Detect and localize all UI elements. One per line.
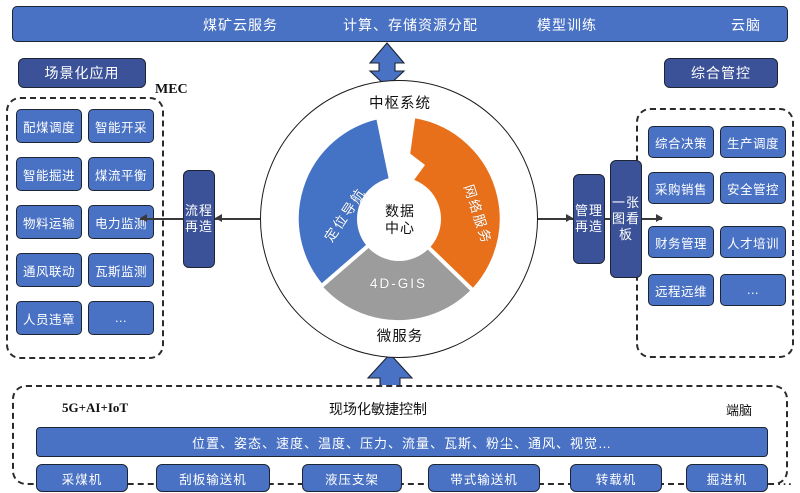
bottom-right-tag: 端脑 [726, 400, 752, 419]
equipment-ellipsis: … [776, 470, 795, 490]
right-cell-3-0[interactable]: 远程远维 [648, 274, 714, 306]
left-cell-1-0[interactable]: 智能掘进 [16, 157, 82, 191]
left-cell-3-1[interactable]: 瓦斯监测 [88, 253, 154, 287]
right-management-panel: 综合决策 生产调度 采购销售 安全管控 财务管理 人才培训 远程远维 … [636, 108, 794, 358]
right-cell-2-0[interactable]: 财务管理 [648, 226, 714, 258]
data-center-hub: 数据 中心 [362, 182, 438, 258]
right-cell-0-1[interactable]: 生产调度 [720, 126, 786, 158]
equipment-box-5[interactable]: 掘进机 [686, 464, 768, 492]
left-cell-0-1[interactable]: 智能开采 [88, 109, 154, 143]
arrow-right-to-mgmt-icon [566, 214, 573, 222]
topbar-item-2: 模型训练 [537, 7, 597, 43]
bottom-center-title: 现场化敏捷控制 [329, 399, 427, 419]
right-cell-3-1[interactable]: … [720, 274, 786, 306]
left-header-box: 场景化应用 [18, 58, 146, 88]
diagram-canvas: 煤矿云服务 计算、存储资源分配 模型训练 云脑 场景化应用 MEC 配煤调度 智… [0, 0, 800, 493]
equipment-box-4[interactable]: 转载机 [570, 464, 662, 492]
right-cell-0-0[interactable]: 综合决策 [648, 126, 714, 158]
hub-line-1: 数据 [385, 203, 415, 221]
right-cell-2-1[interactable]: 人才培训 [720, 226, 786, 258]
equipment-box-0[interactable]: 采煤机 [36, 464, 128, 492]
right-header-box: 综合管控 [664, 58, 778, 88]
right-cell-1-0[interactable]: 采购销售 [648, 172, 714, 204]
field-control-panel: 5G+AI+IoT 现场化敏捷控制 端脑 位置、姿态、速度、温度、压力、流量、瓦… [12, 385, 788, 485]
left-cell-2-1[interactable]: 电力监测 [88, 205, 154, 239]
cloud-services-topbar: 煤矿云服务 计算、存储资源分配 模型训练 云脑 [12, 6, 788, 42]
mec-label: MEC [155, 82, 188, 98]
arrow-left-to-process-icon [215, 214, 222, 222]
one-map-dashboard-box: 一张图看板 [610, 160, 642, 278]
left-cell-2-0[interactable]: 物料运输 [16, 205, 82, 239]
equipment-box-3[interactable]: 带式输送机 [428, 464, 540, 492]
central-system-diagram: 中枢系统 微服务 数据 中心 定位导航 网络服务 4D-GIS [258, 76, 542, 368]
hub-line-2: 中心 [385, 220, 415, 238]
left-cell-1-1[interactable]: 煤流平衡 [88, 157, 154, 191]
topbar-item-0: 煤矿云服务 [203, 7, 278, 43]
left-cell-3-0[interactable]: 通风联动 [16, 253, 82, 287]
management-reengineering-box: 管理再造 [573, 174, 605, 264]
left-cell-4-0[interactable]: 人员违章 [16, 301, 82, 335]
equipment-box-1[interactable]: 刮板输送机 [156, 464, 270, 492]
arrow-right-to-right-panel-icon [656, 214, 663, 222]
arrow-left-to-panel-icon [140, 214, 147, 222]
one-map-dashboard-label: 一张图看板 [611, 195, 641, 243]
connector-line-circle-to-process [215, 218, 263, 220]
equipment-box-2[interactable]: 液压支架 [302, 464, 402, 492]
topbar-item-3: 云脑 [731, 7, 761, 43]
left-cell-4-1[interactable]: … [88, 301, 154, 335]
sensor-parameters-bar: 位置、姿态、速度、温度、压力、流量、瓦斯、粉尘、通风、视觉… [36, 427, 768, 457]
management-reengineering-label: 管理再造 [574, 203, 604, 235]
segment-label-4dgis: 4D-GIS [370, 276, 427, 291]
process-reengineering-box: 流程再造 [183, 170, 215, 268]
left-scenario-panel: 配煤调度 智能开采 智能掘进 煤流平衡 物料运输 电力监测 通风联动 瓦斯监测 … [6, 97, 164, 359]
topbar-item-1: 计算、存储资源分配 [343, 7, 478, 43]
process-reengineering-label: 流程再造 [184, 203, 214, 235]
bottom-left-tag: 5G+AI+IoT [62, 400, 128, 416]
left-cell-0-0[interactable]: 配煤调度 [16, 109, 82, 143]
right-cell-1-1[interactable]: 安全管控 [720, 172, 786, 204]
